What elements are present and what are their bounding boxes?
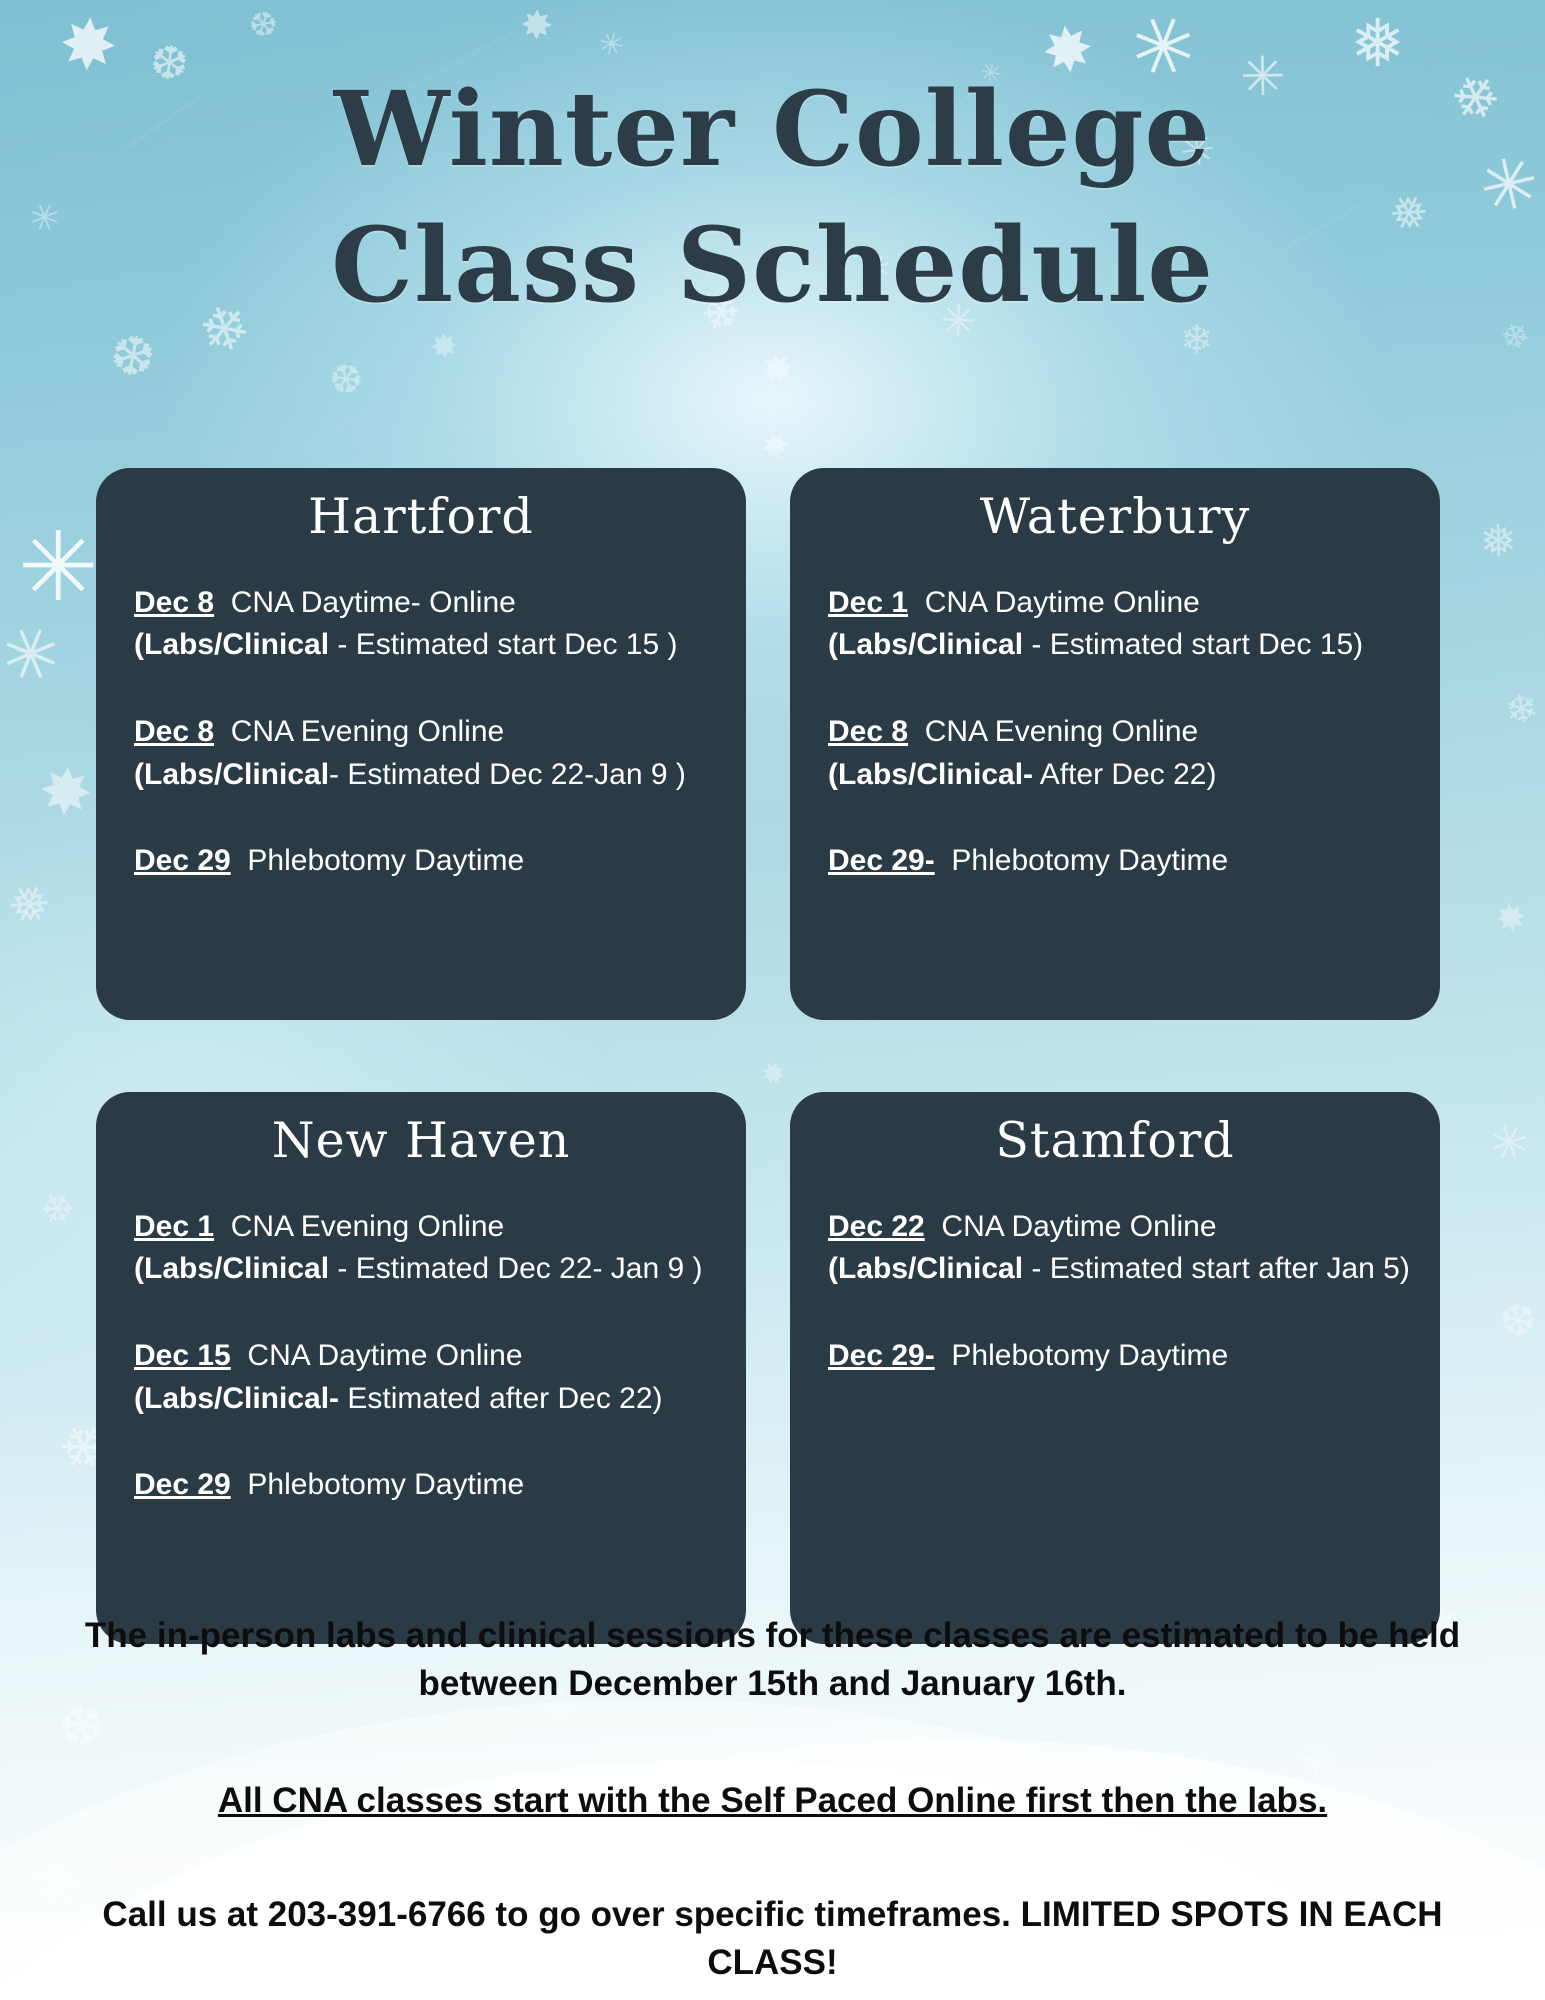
location-name: Waterbury xyxy=(810,490,1420,544)
class-entry-date: Dec 15 xyxy=(134,1339,231,1372)
class-entry-date: Dec 8 xyxy=(134,586,214,619)
page-title-line-2: Class Schedule xyxy=(0,198,1545,334)
footer-emphasis: All CNA classes start with the Self Pace… xyxy=(0,1781,1545,1821)
class-entry: Dec 22 CNA Daytime Online(Labs/Clinical … xyxy=(810,1206,1420,1291)
page-title: Winter College Class Schedule xyxy=(0,0,1545,334)
class-entry-course: CNA Evening Online xyxy=(231,715,505,748)
class-entry-labs-line: (Labs/Clinical- After Dec 22) xyxy=(810,754,1420,797)
class-entry: Dec 15 CNA Daytime Online(Labs/Clinical-… xyxy=(116,1335,726,1420)
class-entry-date: Dec 8 xyxy=(134,715,214,748)
class-entry-date: Dec 1 xyxy=(134,1210,214,1243)
footer: The in-person labs and clinical sessions… xyxy=(0,1612,1545,1986)
class-entry-course: Phlebotomy Daytime xyxy=(951,1339,1228,1372)
class-entry-labs-label: (Labs/Clinical- xyxy=(828,758,1033,791)
class-entry-date: Dec 29 xyxy=(134,1468,231,1501)
class-entry-labs-label: (Labs/Clinical xyxy=(134,758,329,791)
class-entry-course: Phlebotomy Daytime xyxy=(247,844,524,877)
class-entry-date: Dec 22 xyxy=(828,1210,925,1243)
footer-paragraph: The in-person labs and clinical sessions… xyxy=(0,1612,1545,1707)
class-entry: Dec 8 CNA Evening Online(Labs/Clinical- … xyxy=(810,711,1420,796)
class-entry-course-line: Dec 29- Phlebotomy Daytime xyxy=(810,840,1420,883)
class-entry-date: Dec 29- xyxy=(828,1339,935,1372)
class-entry: Dec 29- Phlebotomy Daytime xyxy=(810,840,1420,883)
class-entry-labs-detail: - Estimated Dec 22- Jan 9 ) xyxy=(329,1252,702,1285)
class-entry: Dec 29- Phlebotomy Daytime xyxy=(810,1335,1420,1378)
class-entry-labs-label: (Labs/Clinical xyxy=(828,628,1023,661)
class-entry-labs-label: (Labs/Clinical- xyxy=(134,1382,339,1415)
class-entry-course: CNA Daytime Online xyxy=(925,586,1200,619)
class-entry-labs-detail: - Estimated Dec 22-Jan 9 ) xyxy=(329,758,686,791)
class-entry-labs-detail: Estimated after Dec 22) xyxy=(339,1382,662,1415)
class-entry-labs-line: (Labs/Clinical - Estimated start after J… xyxy=(810,1248,1420,1291)
class-entry: Dec 1 CNA Daytime Online(Labs/Clinical -… xyxy=(810,582,1420,667)
location-card: WaterburyDec 1 CNA Daytime Online(Labs/C… xyxy=(790,468,1440,1020)
class-entry-course: Phlebotomy Daytime xyxy=(247,1468,524,1501)
class-entry-course: CNA Daytime Online xyxy=(247,1339,522,1372)
class-entry: Dec 29 Phlebotomy Daytime xyxy=(116,1464,726,1507)
class-entry-course: CNA Daytime Online xyxy=(941,1210,1216,1243)
class-entry-date: Dec 1 xyxy=(828,586,908,619)
class-entry-course-line: Dec 1 CNA Evening Online xyxy=(116,1206,726,1249)
location-card: New HavenDec 1 CNA Evening Online(Labs/C… xyxy=(96,1092,746,1644)
class-entry-course: CNA Evening Online xyxy=(925,715,1199,748)
class-entry-labs-label: (Labs/Clinical xyxy=(134,628,329,661)
class-entry-labs-label: (Labs/Clinical xyxy=(828,1252,1023,1285)
class-entry-course-line: Dec 1 CNA Daytime Online xyxy=(810,582,1420,625)
class-entry-date: Dec 29 xyxy=(134,844,231,877)
location-name: Stamford xyxy=(810,1114,1420,1168)
class-entry-course-line: Dec 22 CNA Daytime Online xyxy=(810,1206,1420,1249)
class-entry-labs-detail: - Estimated start after Jan 5) xyxy=(1023,1252,1410,1285)
location-name: New Haven xyxy=(116,1114,726,1168)
class-entry-course: Phlebotomy Daytime xyxy=(951,844,1228,877)
class-entry-course-line: Dec 15 CNA Daytime Online xyxy=(116,1335,726,1378)
location-card-grid: HartfordDec 8 CNA Daytime- Online(Labs/C… xyxy=(96,468,1456,1644)
class-entry-labs-line: (Labs/Clinical - Estimated Dec 22- Jan 9… xyxy=(116,1248,726,1291)
location-card: StamfordDec 22 CNA Daytime Online(Labs/C… xyxy=(790,1092,1440,1644)
class-entry-labs-line: (Labs/Clinical- Estimated Dec 22-Jan 9 ) xyxy=(116,754,726,797)
class-entry: Dec 8 CNA Daytime- Online(Labs/Clinical … xyxy=(116,582,726,667)
class-entry-course: CNA Daytime- Online xyxy=(231,586,516,619)
class-entry-date: Dec 29- xyxy=(828,844,935,877)
class-entry: Dec 8 CNA Evening Online(Labs/Clinical- … xyxy=(116,711,726,796)
class-entry-labs-detail: After Dec 22) xyxy=(1033,758,1216,791)
class-entry-labs-label: (Labs/Clinical xyxy=(134,1252,329,1285)
class-entry-course-line: Dec 8 CNA Evening Online xyxy=(810,711,1420,754)
class-entry-labs-line: (Labs/Clinical - Estimated start Dec 15 … xyxy=(116,624,726,667)
class-entry-date: Dec 8 xyxy=(828,715,908,748)
class-entry-course-line: Dec 8 CNA Evening Online xyxy=(116,711,726,754)
class-entry-course-line: Dec 29 Phlebotomy Daytime xyxy=(116,1464,726,1507)
class-entry-labs-detail: - Estimated start Dec 15) xyxy=(1023,628,1363,661)
class-entry-course-line: Dec 29- Phlebotomy Daytime xyxy=(810,1335,1420,1378)
page-title-line-1: Winter College xyxy=(334,69,1211,190)
class-entry-labs-line: (Labs/Clinical- Estimated after Dec 22) xyxy=(116,1378,726,1421)
location-card: HartfordDec 8 CNA Daytime- Online(Labs/C… xyxy=(96,468,746,1020)
class-entry-course-line: Dec 29 Phlebotomy Daytime xyxy=(116,840,726,883)
class-entry-course-line: Dec 8 CNA Daytime- Online xyxy=(116,582,726,625)
class-entry-labs-detail: - Estimated start Dec 15 ) xyxy=(329,628,677,661)
footer-call-to-action: Call us at 203-391-6766 to go over speci… xyxy=(0,1891,1545,1986)
class-entry: Dec 1 CNA Evening Online(Labs/Clinical -… xyxy=(116,1206,726,1291)
class-entry-labs-line: (Labs/Clinical - Estimated start Dec 15) xyxy=(810,624,1420,667)
class-entry: Dec 29 Phlebotomy Daytime xyxy=(116,840,726,883)
class-entry-course: CNA Evening Online xyxy=(231,1210,505,1243)
location-name: Hartford xyxy=(116,490,726,544)
